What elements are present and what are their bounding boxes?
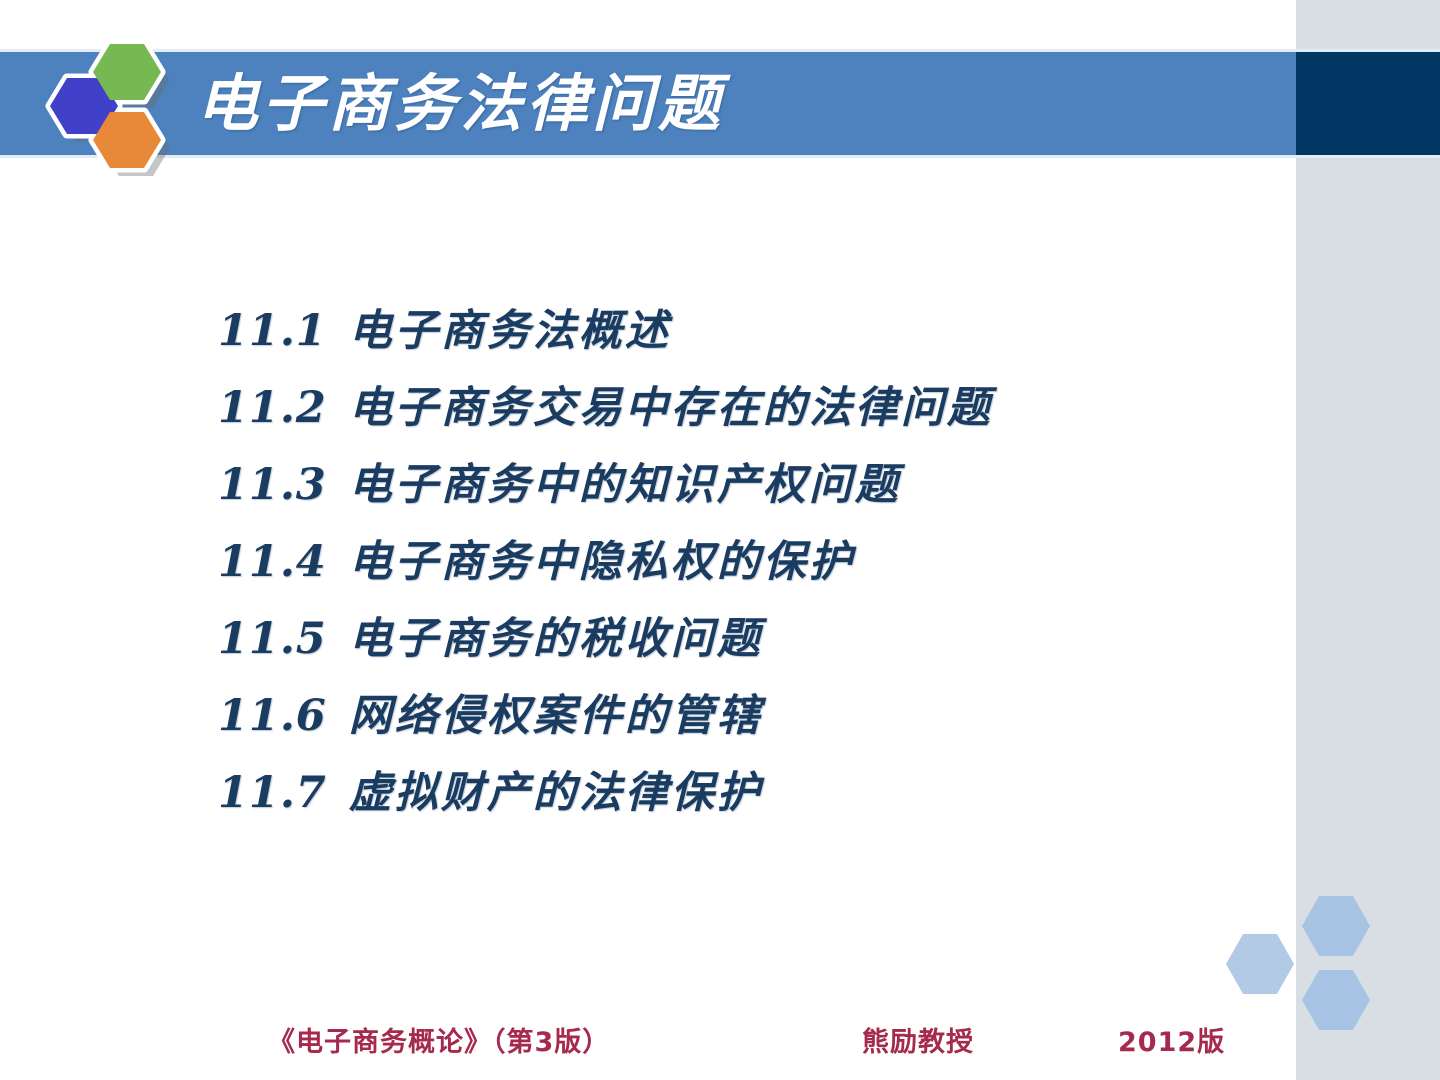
toc-item-number: 11.4 (218, 537, 327, 587)
header-bottom-hairline (0, 155, 1440, 158)
list-item[interactable]: 11.4 电子商务中隐私权的保护 (218, 527, 1238, 604)
footer-book-title: 《电子商务概论》（第3版） (268, 1020, 610, 1059)
list-item[interactable]: 11.5 电子商务的税收问题 (218, 604, 1238, 681)
list-item[interactable]: 11.3 电子商务中的知识产权问题 (218, 450, 1238, 527)
toc-item-label: 网络侵权案件的管辖 (349, 681, 763, 743)
toc-item-number: 11.5 (218, 614, 327, 664)
toc-item-number: 11.7 (218, 768, 327, 818)
footer-author: 熊励教授 (862, 1020, 974, 1059)
hexagon-logo-icon (24, 28, 184, 178)
deco-hex-top-right (1302, 896, 1370, 956)
toc-item-number: 11.6 (218, 691, 327, 741)
slide-root: 电子商务法律问题 11.1 电子商务法概述 11.2 电子商务交易中存在的法律问… (0, 0, 1440, 1080)
header-band-accent (1296, 52, 1440, 155)
toc-item-label: 电子商务法概述 (349, 296, 671, 358)
toc-item-label: 电子商务中隐私权的保护 (349, 527, 855, 589)
toc-item-label: 虚拟财产的法律保护 (349, 758, 763, 820)
list-item[interactable]: 11.1 电子商务法概述 (218, 296, 1238, 373)
list-item[interactable]: 11.7 虚拟财产的法律保护 (218, 758, 1238, 835)
toc-item-label: 电子商务中的知识产权问题 (349, 450, 901, 512)
toc-item-label: 电子商务的税收问题 (349, 604, 763, 666)
deco-hex-left (1226, 934, 1294, 994)
toc-list: 11.1 电子商务法概述 11.2 电子商务交易中存在的法律问题 11.3 电子… (218, 296, 1238, 835)
toc-item-number: 11.2 (218, 383, 327, 433)
slide-footer: 《电子商务概论》（第3版） 熊励教授 2012版 (0, 1012, 1296, 1064)
list-item[interactable]: 11.6 网络侵权案件的管辖 (218, 681, 1238, 758)
toc-item-number: 11.3 (218, 460, 327, 510)
toc-item-number: 11.1 (218, 306, 327, 356)
list-item[interactable]: 11.2 电子商务交易中存在的法律问题 (218, 373, 1238, 450)
toc-item-label: 电子商务交易中存在的法律问题 (349, 373, 993, 435)
deco-hex-bottom-right (1302, 970, 1370, 1030)
page-title: 电子商务法律问题 (196, 56, 1196, 152)
footer-edition: 2012版 (1118, 1020, 1225, 1059)
